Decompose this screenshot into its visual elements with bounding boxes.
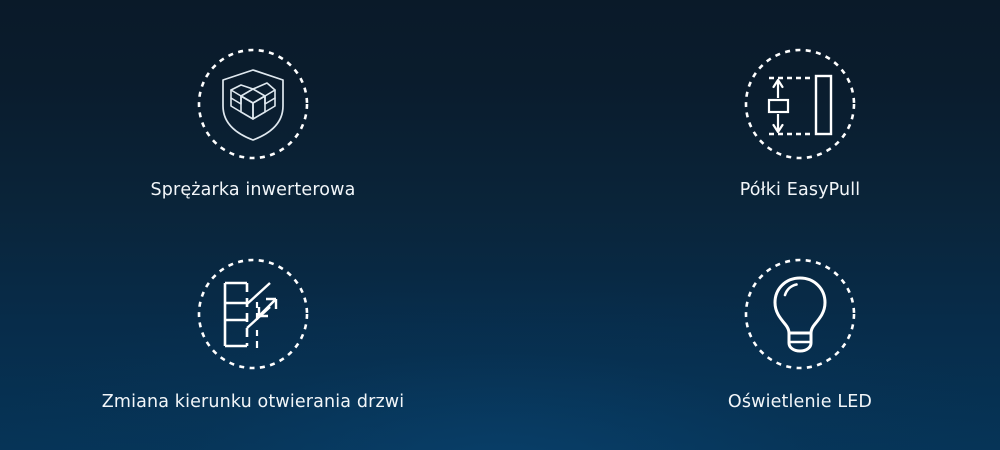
door-reverse-icon bbox=[197, 258, 309, 370]
feature-grid: Sprężarka inwerterowa bbox=[0, 0, 1000, 450]
feature-label-inverter-compressor: Sprężarka inwerterowa bbox=[151, 180, 356, 201]
feature-label-easypull-shelves: Półki EasyPull bbox=[740, 180, 861, 201]
feature-easypull-shelves: Półki EasyPull bbox=[500, 0, 1000, 225]
shelf-height-arrow-icon bbox=[744, 48, 856, 160]
feature-inverter-compressor: Sprężarka inwerterowa bbox=[0, 0, 500, 225]
icon-door-reverse-circle bbox=[197, 258, 309, 370]
feature-label-reversible-door: Zmiana kierunku otwierania drzwi bbox=[102, 392, 405, 413]
icon-bulb-circle bbox=[744, 258, 856, 370]
icon-shield-cube-circle bbox=[197, 48, 309, 160]
feature-led-lighting: Oświetlenie LED bbox=[500, 225, 1000, 450]
light-bulb-icon bbox=[744, 258, 856, 370]
feature-label-led-lighting: Oświetlenie LED bbox=[728, 392, 872, 413]
icon-shelf-circle bbox=[744, 48, 856, 160]
feature-reversible-door: Zmiana kierunku otwierania drzwi bbox=[0, 225, 500, 450]
shield-cube-icon bbox=[197, 48, 309, 160]
feature-banner: Sprężarka inwerterowa bbox=[0, 0, 1000, 450]
